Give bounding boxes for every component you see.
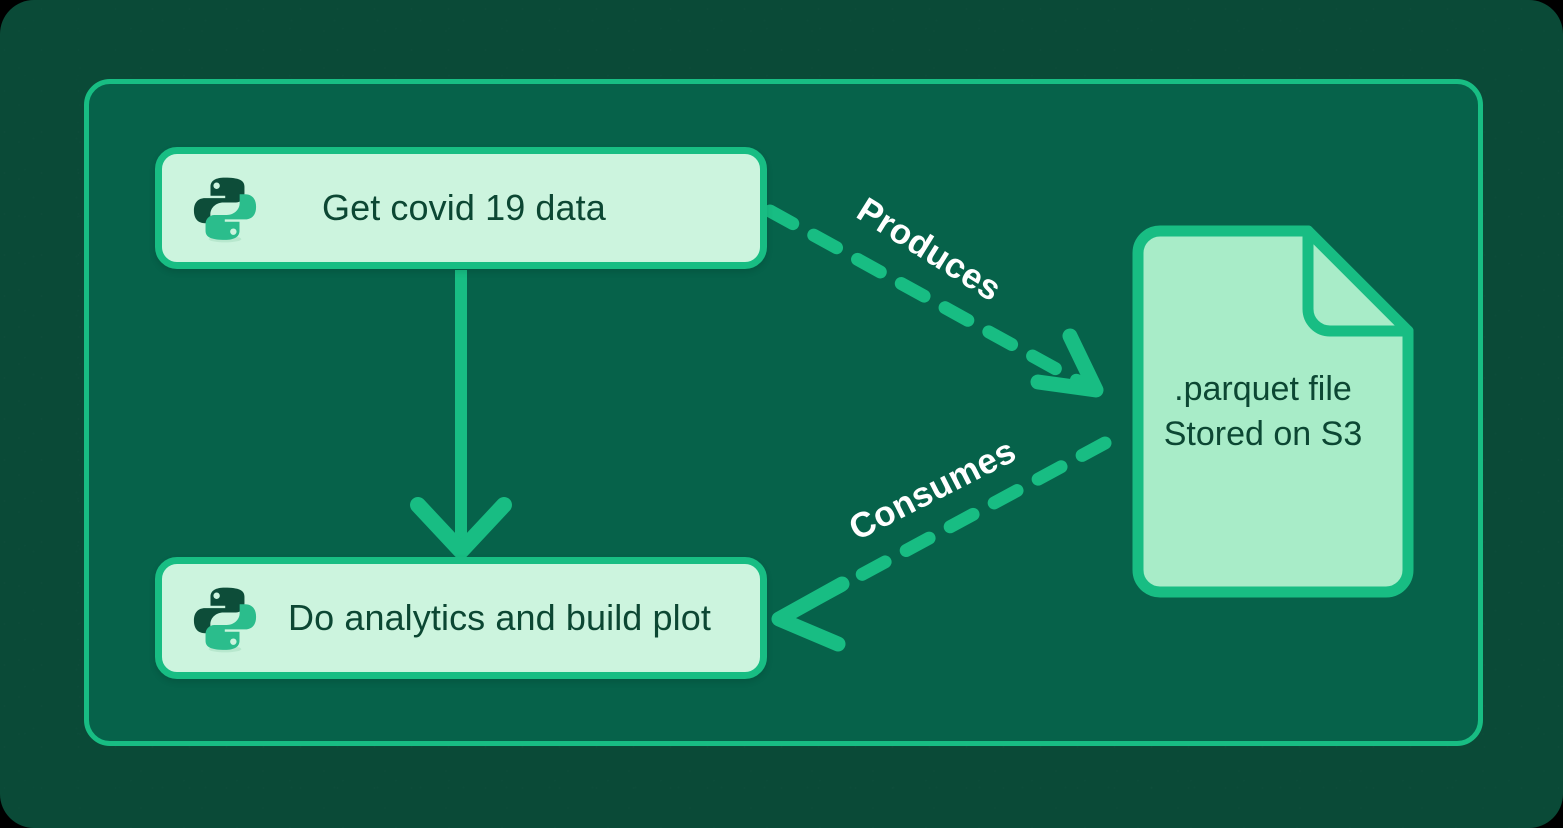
diagram-canvas: Produces Consumes Get covid 19 data Do a… bbox=[0, 0, 1563, 828]
node-do-analytics-and-build-plot[interactable]: Do analytics and build plot bbox=[155, 557, 767, 679]
node-parquet-file[interactable]: .parquet file Stored on S3 bbox=[1112, 225, 1414, 598]
python-icon bbox=[188, 171, 262, 245]
file-icon bbox=[1112, 225, 1414, 598]
python-icon bbox=[188, 581, 262, 655]
node-label: Do analytics and build plot bbox=[288, 597, 711, 639]
node-get-covid-19-data[interactable]: Get covid 19 data bbox=[155, 147, 767, 269]
node-label: Get covid 19 data bbox=[322, 187, 606, 229]
